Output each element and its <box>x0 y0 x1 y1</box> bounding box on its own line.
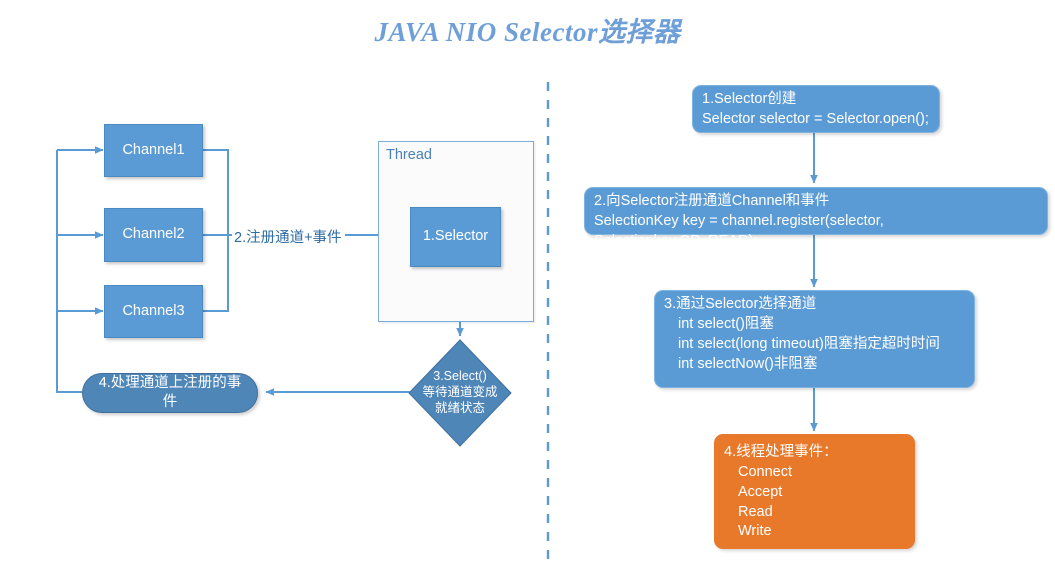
step-4-line-3: Accept <box>724 483 905 503</box>
step-4-line-1: 4.线程处理事件： <box>724 443 905 463</box>
selector-box[interactable]: 1.Selector <box>410 207 501 267</box>
channel-box-1[interactable]: Channel1 <box>104 124 203 177</box>
decision-line-2: 等待通道变成 <box>422 385 497 401</box>
channel-box-2-label: Channel2 <box>122 225 184 244</box>
step-4-line-5: Write <box>724 522 905 542</box>
channel-box-3-label: Channel3 <box>122 302 184 321</box>
step-4-line-2: Connect <box>724 463 905 483</box>
selector-box-label: 1.Selector <box>423 227 488 246</box>
step-3-box[interactable]: 3.通过Selector选择通道 int select()阻塞 int sele… <box>654 290 975 388</box>
channel-box-2[interactable]: Channel2 <box>104 208 203 262</box>
page-title: JAVA NIO Selector选择器 <box>0 10 1055 49</box>
step-2-line-2: SelectionKey key = channel.register(sele… <box>594 212 1038 252</box>
channel-box-3[interactable]: Channel3 <box>104 285 203 338</box>
step-3-line-1: 3.通过Selector选择通道 <box>664 295 965 315</box>
step-1-line-2: Selector selector = Selector.open(); <box>702 110 930 130</box>
channel-box-1-label: Channel1 <box>122 141 184 160</box>
step-3-line-2: int select()阻塞 <box>664 315 965 335</box>
register-edge-label: 2.注册通道+事件 <box>233 226 343 247</box>
handle-events-pill[interactable]: 4.处理通道上注册的事件 <box>82 373 258 413</box>
decision-line-1: 3.Select() <box>433 369 487 385</box>
step-2-box[interactable]: 2.向Selector注册通道Channel和事件 SelectionKey k… <box>584 187 1048 235</box>
diagram-canvas: JAVA NIO Selector选择器 <box>0 0 1055 582</box>
step-2-line-1: 2.向Selector注册通道Channel和事件 <box>594 192 1038 212</box>
thread-label: Thread <box>386 146 432 165</box>
step-1-line-1: 1.Selector创建 <box>702 90 930 110</box>
decision-line-3: 就绪状态 <box>435 401 485 417</box>
step-3-line-3: int select(long timeout)阻塞指定超时时间 <box>664 335 965 355</box>
step-4-box[interactable]: 4.线程处理事件： Connect Accept Read Write <box>714 434 915 549</box>
select-decision[interactable]: 3.Select() 等待通道变成 就绪状态 <box>409 340 511 446</box>
step-3-line-4: int selectNow()非阻塞 <box>664 355 965 375</box>
step-4-line-4: Read <box>724 503 905 523</box>
step-1-box[interactable]: 1.Selector创建 Selector selector = Selecto… <box>692 85 940 133</box>
handle-events-pill-label: 4.处理通道上注册的事件 <box>93 374 247 413</box>
